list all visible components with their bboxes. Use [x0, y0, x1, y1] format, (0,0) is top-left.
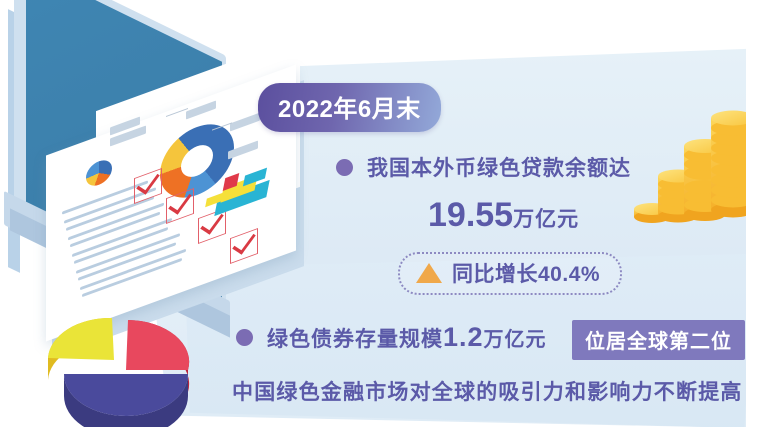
bullet-dot-icon: [336, 159, 353, 176]
stat-bonds-text: 绿色债券存量规模1.2万亿元: [267, 322, 547, 353]
stat-loans-value: 19.55万亿元: [428, 196, 579, 235]
stat-loans-number: 19.55: [428, 196, 513, 234]
stat-row-bonds: 绿色债券存量规模1.2万亿元: [236, 322, 547, 353]
content-layer: 2022年6月末 我国本外币绿色贷款余额达 19.55万亿元 同比增长40.4%…: [0, 0, 768, 443]
stat-bonds-unit: 万亿元: [484, 329, 547, 351]
date-badge: 2022年6月末: [258, 83, 441, 132]
stat-bonds-label: 绿色债券存量规模: [267, 328, 443, 351]
stat-loans-label: 我国本外币绿色贷款余额达: [367, 152, 631, 182]
stat-loans-unit: 万亿元: [513, 208, 579, 231]
bullet-dot-icon: [236, 329, 253, 346]
rank-badge: 位居全球第二位: [572, 320, 745, 360]
stat-row-loans: 我国本外币绿色贷款余额达: [336, 152, 631, 182]
growth-label: 同比增长40.4%: [452, 258, 600, 288]
stat-bonds-number: 1.2: [443, 322, 484, 352]
infographic-canvas: 2022年6月末 我国本外币绿色贷款余额达 19.55万亿元 同比增长40.4%…: [0, 0, 768, 443]
footer-statement: 中国绿色金融市场对全球的吸引力和影响力不断提高: [232, 376, 743, 406]
growth-badge: 同比增长40.4%: [398, 252, 622, 295]
up-triangle-icon: [416, 263, 442, 283]
